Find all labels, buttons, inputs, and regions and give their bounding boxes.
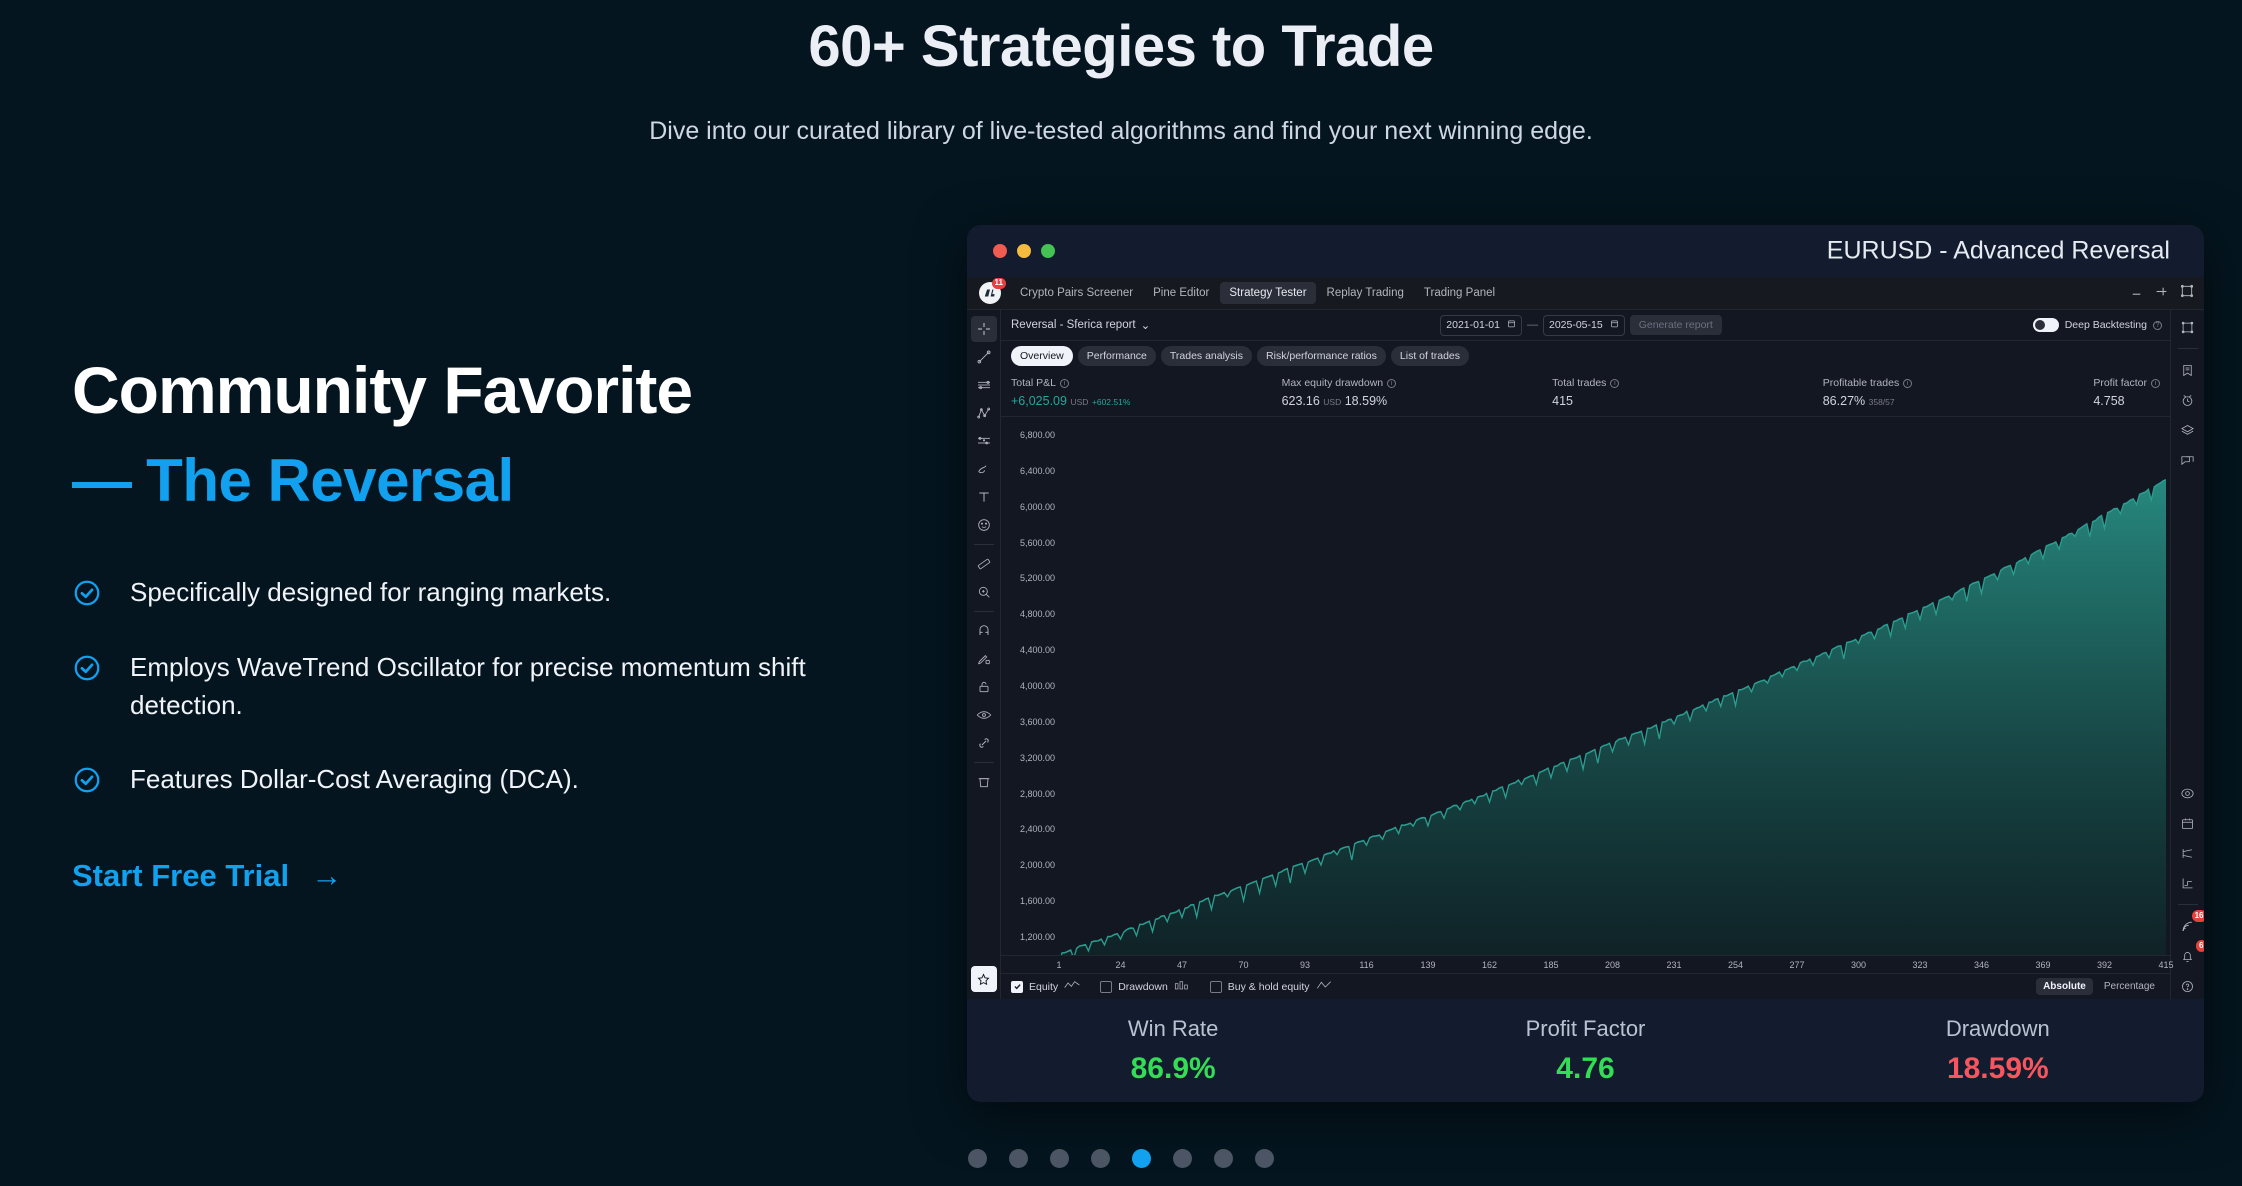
- x-tick-label: 24: [1115, 960, 1125, 970]
- divider: [974, 762, 994, 763]
- stat-sub: +602.51%: [1092, 397, 1131, 407]
- carousel-dot-7[interactable]: [1214, 1149, 1233, 1168]
- y-tick-label: 2,800.00: [1020, 789, 1055, 799]
- y-tick-label: 2,000.00: [1020, 860, 1055, 870]
- chart-plot-area[interactable]: [1059, 417, 2166, 955]
- chat-icon[interactable]: [2175, 447, 2201, 473]
- equity-checkbox[interactable]: [1011, 981, 1023, 993]
- check-circle-icon: [72, 653, 102, 688]
- list-item: Employs WaveTrend Oscillator for precise…: [72, 649, 952, 724]
- carousel-dot-3[interactable]: [1050, 1149, 1069, 1168]
- feature-copy-column: Community Favorite — The Reversal Specif…: [72, 355, 952, 894]
- x-tick-label: 70: [1238, 960, 1248, 970]
- stat-label: Total trades: [1552, 377, 1606, 389]
- x-tick-label: 185: [1543, 960, 1558, 970]
- feature-accent-heading: — The Reversal: [72, 448, 952, 514]
- hide-drawings-icon[interactable]: [971, 702, 997, 728]
- y-tick-label: 6,400.00: [1020, 466, 1055, 476]
- logo-badge: 11: [992, 278, 1006, 289]
- tab-overview[interactable]: Overview: [1011, 346, 1073, 366]
- x-tick-label: 369: [2035, 960, 2050, 970]
- x-tick-label: 254: [1728, 960, 1743, 970]
- stat-label: Profitable trades: [1823, 377, 1899, 389]
- y-tick-label: 3,200.00: [1020, 753, 1055, 763]
- cta-label: Start Free Trial: [72, 858, 289, 894]
- x-tick-label: 392: [2097, 960, 2112, 970]
- minimize-window-button[interactable]: [1017, 244, 1031, 258]
- horizontal-lines-icon[interactable]: [971, 372, 997, 398]
- x-tick-label: 415: [2158, 960, 2173, 970]
- minimize-icon[interactable]: [2130, 285, 2143, 303]
- x-tick-label: 346: [1974, 960, 1989, 970]
- app-window-mockup: EURUSD - Advanced Reversal 11 Crypto Pai…: [967, 225, 2204, 1102]
- check-circle-icon: [72, 578, 102, 613]
- right-tools-rail: 16 6: [2170, 310, 2204, 999]
- metric-value: 18.59%: [1792, 1052, 2204, 1086]
- y-tick-label: 2,400.00: [1020, 824, 1055, 834]
- feature-accent-text: The Reversal: [146, 447, 514, 514]
- carousel-dot-2[interactable]: [1009, 1149, 1028, 1168]
- stat-max-equity-drawdown: Max equity drawdown i 623.16 USD 18.59%: [1282, 377, 1553, 408]
- notifications-bell-icon[interactable]: 6: [2175, 943, 2201, 969]
- page-subtitle: Dive into our curated library of live-te…: [0, 117, 2242, 146]
- stat-value: +6,025.09: [1011, 394, 1067, 408]
- drawdown-checkbox[interactable]: [1100, 981, 1112, 993]
- legend-drawdown[interactable]: Drawdown: [1100, 980, 1190, 993]
- x-tick-label: 47: [1177, 960, 1187, 970]
- link-icon[interactable]: [971, 730, 997, 756]
- drawing-tools-rail: [967, 310, 1001, 999]
- metric-label: Profit Factor: [1379, 1016, 1791, 1042]
- stat-unit: USD: [1323, 397, 1341, 407]
- stat-value: 623.16: [1282, 394, 1320, 408]
- y-tick-label: 1,600.00: [1020, 896, 1055, 906]
- equity-chart: 6,800.006,400.006,000.005,600.005,200.00…: [1001, 417, 2170, 955]
- x-tick-label: 1: [1056, 960, 1061, 970]
- help-icon[interactable]: [2175, 973, 2201, 999]
- x-tick-label: 277: [1789, 960, 1804, 970]
- hero-header: 60+ Strategies to Trade Dive into our cu…: [0, 0, 2242, 146]
- y-tick-label: 6,800.00: [1020, 430, 1055, 440]
- feature-heading: Community Favorite: [72, 355, 952, 426]
- carousel-dot-4[interactable]: [1091, 1149, 1110, 1168]
- legend-label: Equity: [1029, 981, 1058, 993]
- object-tree-icon[interactable]: [2175, 314, 2201, 340]
- alerts-clock-icon[interactable]: [2175, 387, 2201, 413]
- flows-icon[interactable]: [2175, 840, 2201, 866]
- metric-win-rate: Win Rate 86.9%: [967, 1016, 1379, 1086]
- trash-icon[interactable]: [971, 769, 997, 795]
- metric-label: Win Rate: [967, 1016, 1379, 1042]
- report-tabs: Overview Performance Trades analysis Ris…: [1001, 341, 2170, 371]
- panel-window-controls: [2130, 277, 2198, 310]
- stat-value: 415: [1552, 394, 1573, 408]
- x-tick-label: 300: [1851, 960, 1866, 970]
- stat-value: 86.27%: [1823, 394, 1865, 408]
- drawing-mode-icon[interactable]: [971, 646, 997, 672]
- y-tick-label: 4,800.00: [1020, 609, 1055, 619]
- tab-list-of-trades[interactable]: List of trades: [1391, 346, 1469, 366]
- tradingview-app: 11 Crypto Pairs Screener Pine Editor Str…: [967, 277, 2204, 999]
- calendar-icon[interactable]: [2175, 810, 2201, 836]
- buy-hold-checkbox[interactable]: [1210, 981, 1222, 993]
- info-icon[interactable]: i: [2151, 379, 2160, 388]
- stat-value: 4.758: [2093, 394, 2124, 408]
- bullet-text: Features Dollar-Cost Averaging (DCA).: [130, 761, 579, 799]
- chevron-down-icon: ⌄: [1141, 318, 1151, 332]
- notifications-badge: 6: [2196, 940, 2204, 952]
- chart-x-axis: 1244770931161391621852082312542773003233…: [1001, 955, 2170, 973]
- divider: [974, 544, 994, 545]
- zoom-in-icon[interactable]: [971, 579, 997, 605]
- percentage-button[interactable]: Percentage: [2097, 978, 2162, 995]
- stat-total-pl: Total P&L i +6,025.09 USD +602.51%: [1011, 377, 1282, 408]
- y-tick-label: 3,600.00: [1020, 717, 1055, 727]
- carousel-dot-1[interactable]: [968, 1149, 987, 1168]
- y-tick-label: 6,000.00: [1020, 502, 1055, 512]
- x-tick-label: 116: [1359, 960, 1373, 970]
- fib-pattern-icon[interactable]: [971, 400, 997, 426]
- date-range-group: 2021-01-01 — 2025-05-15 Gener: [1440, 315, 1722, 336]
- divider: [2178, 904, 2198, 905]
- lock-icon[interactable]: [971, 674, 997, 700]
- date-to-value: 2025-05-15: [1549, 319, 1603, 331]
- check-circle-icon: [72, 765, 102, 800]
- tradingview-topbar: 11 Crypto Pairs Screener Pine Editor Str…: [967, 277, 2204, 310]
- y-tick-label: 5,200.00: [1020, 573, 1055, 583]
- y-tick-label: 4,400.00: [1020, 645, 1055, 655]
- carousel-dot-8[interactable]: [1255, 1149, 1274, 1168]
- trend-line-icon[interactable]: [971, 344, 997, 370]
- em-dash: —: [72, 447, 130, 514]
- report-selector[interactable]: Reversal - Sferica report ⌄: [1011, 318, 1150, 332]
- y-tick-label: 1,200.00: [1020, 932, 1055, 942]
- x-tick-label: 93: [1300, 960, 1310, 970]
- arrow-right-icon: →: [311, 860, 342, 891]
- measure-ruler-icon[interactable]: [971, 551, 997, 577]
- bullet-text: Specifically designed for ranging market…: [130, 574, 611, 612]
- window-titlebar: EURUSD - Advanced Reversal: [967, 225, 2204, 277]
- tab-performance[interactable]: Performance: [1078, 346, 1156, 366]
- legend-label: Drawdown: [1118, 981, 1168, 993]
- start-free-trial-link[interactable]: Start Free Trial →: [72, 858, 342, 894]
- x-tick-label: 162: [1482, 960, 1497, 970]
- app-logo-icon[interactable]: 11: [979, 282, 1001, 304]
- list-item: Specifically designed for ranging market…: [72, 574, 952, 613]
- strategy-tester-panel: Reversal - Sferica report ⌄ 2021-01-01 —: [1001, 310, 2170, 999]
- buyhold-line-icon: [1316, 980, 1332, 993]
- stat-sub: 18.59%: [1345, 394, 1387, 408]
- deep-backtesting-group: Deep Backtesting ?: [2033, 318, 2162, 332]
- maximize-window-button[interactable]: [1041, 244, 1055, 258]
- carousel-dot-6[interactable]: [1173, 1149, 1192, 1168]
- stat-unit: USD: [1070, 397, 1088, 407]
- generate-report-button[interactable]: Generate report: [1630, 315, 1722, 335]
- list-item: Features Dollar-Cost Averaging (DCA).: [72, 761, 952, 800]
- tradingview-menu: Crypto Pairs Screener Pine Editor Strate…: [1011, 282, 1504, 304]
- info-icon[interactable]: i: [1610, 379, 1619, 388]
- stat-total-trades: Total trades i 415: [1552, 377, 1823, 408]
- date-from-value: 2021-01-01: [1446, 319, 1500, 331]
- crosshair-icon[interactable]: [971, 316, 997, 342]
- layout-icon[interactable]: [2155, 285, 2168, 303]
- info-icon[interactable]: i: [1903, 379, 1912, 388]
- metric-value: 4.76: [1379, 1052, 1791, 1086]
- strategy-tester-toolbar: Reversal - Sferica report ⌄ 2021-01-01 —: [1001, 310, 2170, 341]
- menu-item-replay-trading[interactable]: Replay Trading: [1318, 282, 1413, 304]
- stream-badge: 16: [2192, 910, 2204, 922]
- metric-value: 86.9%: [967, 1052, 1379, 1086]
- drawdown-bars-icon: [1174, 980, 1190, 993]
- traffic-lights: [993, 244, 1055, 258]
- x-tick-label: 323: [1912, 960, 1927, 970]
- menu-item-crypto-pairs-screener[interactable]: Crypto Pairs Screener: [1011, 282, 1142, 304]
- summary-stats-row: Total P&L i +6,025.09 USD +602.51% Max e…: [1001, 371, 2170, 417]
- favorites-star-icon[interactable]: [971, 966, 997, 992]
- menu-item-strategy-tester[interactable]: Strategy Tester: [1220, 282, 1315, 304]
- date-to-input[interactable]: 2025-05-15: [1543, 315, 1625, 336]
- stat-label: Profit factor: [2093, 377, 2147, 389]
- date-from-input[interactable]: 2021-01-01: [1440, 315, 1522, 336]
- stat-sub: 358/57: [1869, 397, 1895, 407]
- tab-trades-analysis[interactable]: Trades analysis: [1161, 346, 1252, 366]
- deep-backtesting-label: Deep Backtesting: [2065, 319, 2147, 331]
- watchlist-icon[interactable]: [2175, 357, 2201, 383]
- x-tick-label: 208: [1605, 960, 1620, 970]
- metric-drawdown: Drawdown 18.59%: [1792, 1016, 2204, 1086]
- y-tick-label: 5,600.00: [1020, 538, 1055, 548]
- x-tick-label: 139: [1420, 960, 1435, 970]
- x-tick-label: 231: [1666, 960, 1681, 970]
- metric-profit-factor: Profit Factor 4.76: [1379, 1016, 1791, 1086]
- chart-legend: Equity Drawdown Buy & ho: [1001, 973, 2170, 999]
- divider: [2178, 348, 2198, 349]
- summary-metrics-bar: Win Rate 86.9% Profit Factor 4.76 Drawdo…: [967, 999, 2204, 1102]
- info-icon[interactable]: ?: [2153, 321, 2162, 330]
- info-icon[interactable]: i: [1387, 379, 1396, 388]
- y-tick-label: 4,000.00: [1020, 681, 1055, 691]
- legend-label: Buy & hold equity: [1228, 981, 1310, 993]
- equity-curve: [1059, 417, 2166, 955]
- fullscreen-icon[interactable]: [2180, 284, 2194, 303]
- brush-icon[interactable]: [971, 456, 997, 482]
- elliott-wave-icon[interactable]: [971, 428, 997, 454]
- stat-profitable-trades: Profitable trades i 86.27% 358/57: [1823, 377, 2094, 408]
- stat-label: Max equity drawdown: [1282, 377, 1384, 389]
- scale-mode-group: Absolute Percentage: [2036, 978, 2162, 995]
- menu-item-pine-editor[interactable]: Pine Editor: [1144, 282, 1218, 304]
- magnet-icon[interactable]: [971, 618, 997, 644]
- info-icon[interactable]: i: [1060, 379, 1069, 388]
- equity-line-icon: [1064, 980, 1080, 993]
- menu-item-trading-panel[interactable]: Trading Panel: [1415, 282, 1504, 304]
- carousel-dot-5[interactable]: [1132, 1149, 1151, 1168]
- text-icon[interactable]: [971, 484, 997, 510]
- stat-label: Total P&L: [1011, 377, 1056, 389]
- date-range-separator: —: [1527, 319, 1538, 331]
- layers-icon[interactable]: [2175, 417, 2201, 443]
- chart-y-axis: 6,800.006,400.006,000.005,600.005,200.00…: [1001, 417, 1059, 955]
- tab-risk-performance-ratios[interactable]: Risk/performance ratios: [1257, 346, 1386, 366]
- stat-profit-factor: Profit factor i 4.758: [2093, 377, 2160, 408]
- chart-pattern-icon[interactable]: [2175, 870, 2201, 896]
- close-window-button[interactable]: [993, 244, 1007, 258]
- absolute-button[interactable]: Absolute: [2036, 978, 2093, 995]
- legend-equity[interactable]: Equity: [1011, 980, 1080, 993]
- feature-bullet-list: Specifically designed for ranging market…: [72, 574, 952, 799]
- legend-buy-hold-equity[interactable]: Buy & hold equity: [1210, 980, 1332, 993]
- ideas-icon[interactable]: [2175, 780, 2201, 806]
- calendar-icon: [1610, 319, 1619, 331]
- carousel-pagination: [0, 1149, 2242, 1168]
- bullet-text: Employs WaveTrend Oscillator for precise…: [130, 649, 810, 724]
- tradingview-main: Reversal - Sferica report ⌄ 2021-01-01 —: [967, 310, 2204, 999]
- stream-icon[interactable]: 16: [2175, 913, 2201, 939]
- metric-label: Drawdown: [1792, 1016, 2204, 1042]
- divider: [974, 611, 994, 612]
- report-name: Reversal - Sferica report: [1011, 319, 1136, 331]
- page-title: 60+ Strategies to Trade: [0, 14, 2242, 81]
- emoji-icon[interactable]: [971, 512, 997, 538]
- deep-backtesting-toggle[interactable]: [2033, 318, 2059, 332]
- calendar-icon: [1507, 319, 1516, 331]
- window-title: EURUSD - Advanced Reversal: [1827, 237, 2170, 266]
